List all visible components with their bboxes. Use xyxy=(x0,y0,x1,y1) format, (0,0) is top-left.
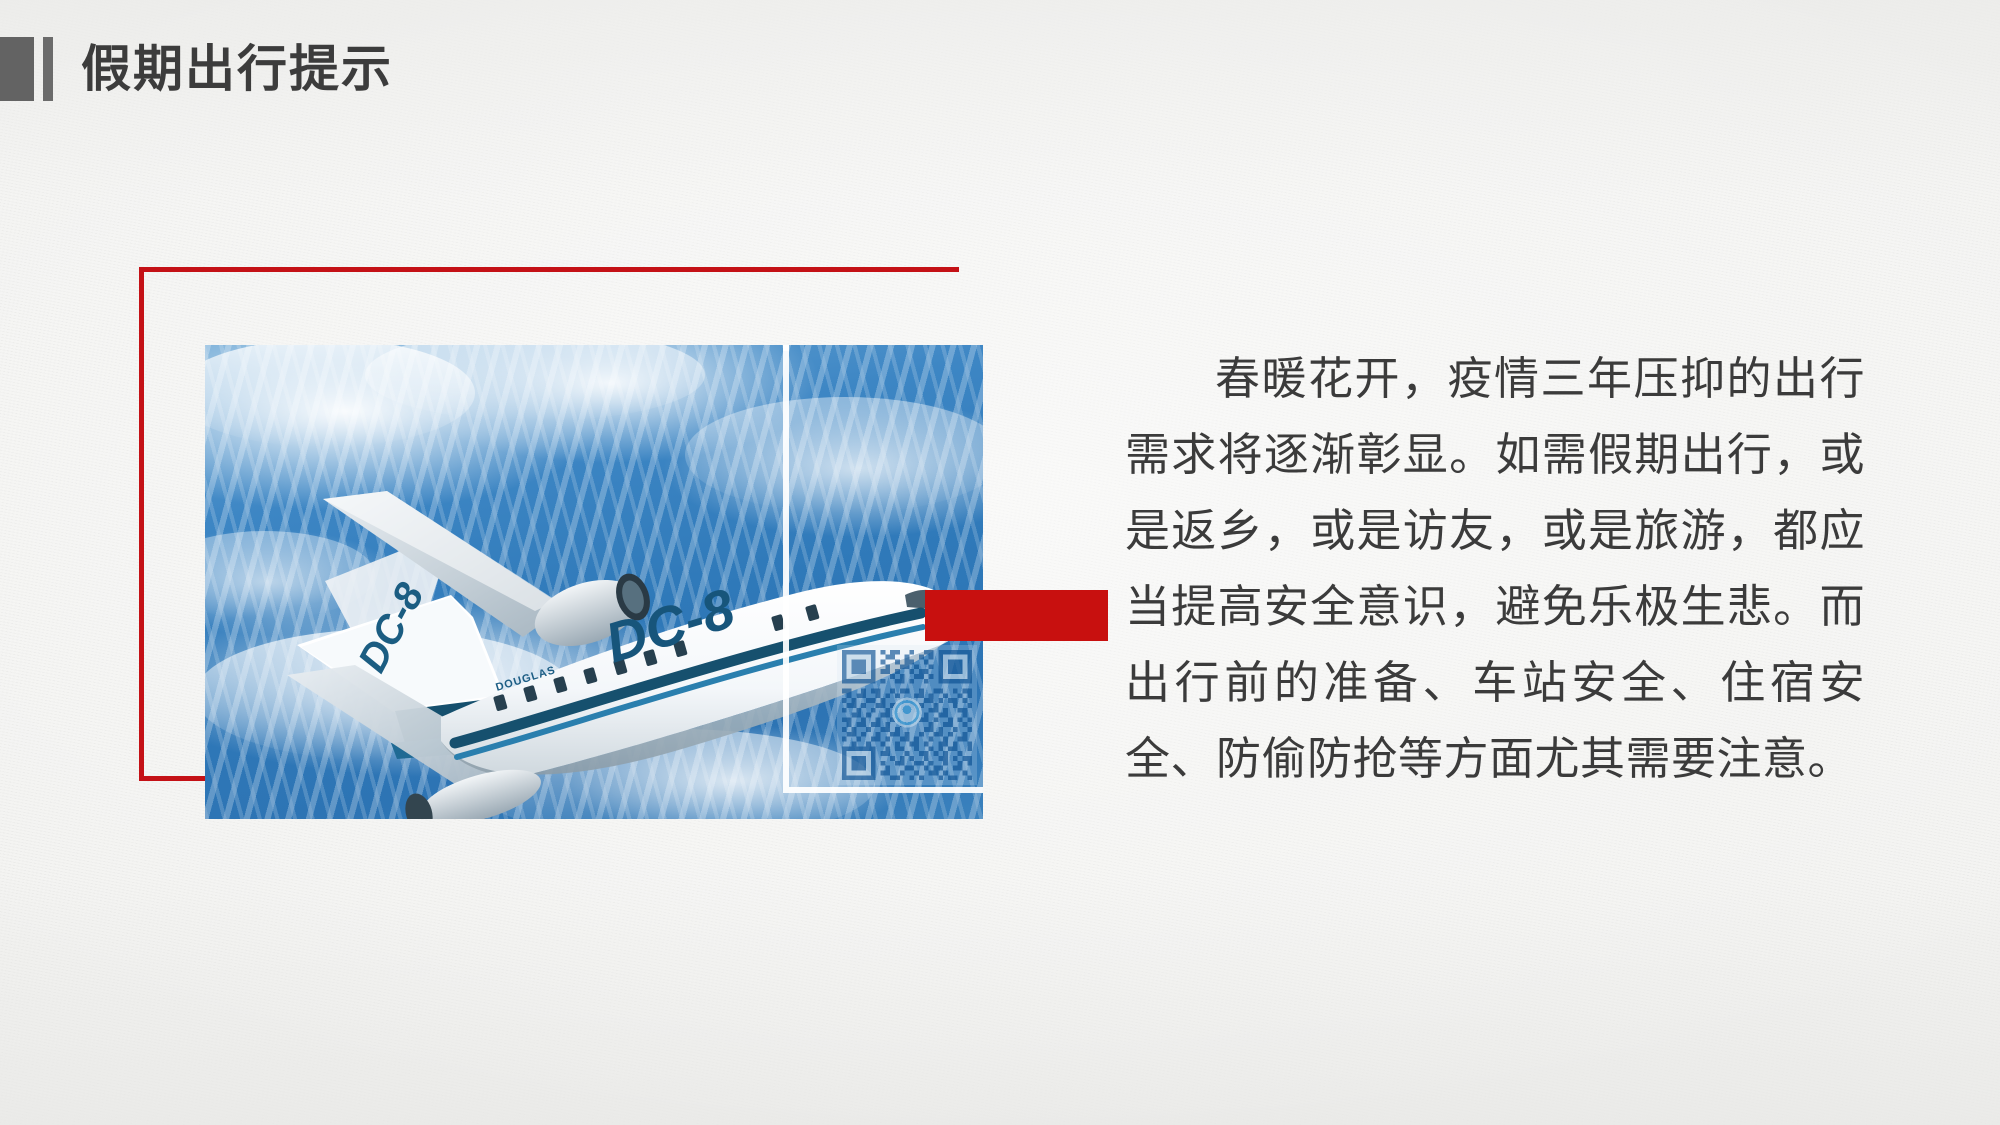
red-accent-block xyxy=(925,590,1108,641)
airplane-photo: DC-8 xyxy=(205,345,983,819)
body-paragraph: 春暖花开，疫情三年压抑的出行需求将逐渐彰显。如需假期出行，或是返乡，或是访友，或… xyxy=(1125,341,1865,797)
slide-canvas: 假期出行提示 xyxy=(0,0,2000,1125)
visual-block: DC-8 xyxy=(0,0,1120,1125)
white-inner-frame-top-cap xyxy=(783,345,789,351)
qr-code-watermark xyxy=(837,641,977,789)
